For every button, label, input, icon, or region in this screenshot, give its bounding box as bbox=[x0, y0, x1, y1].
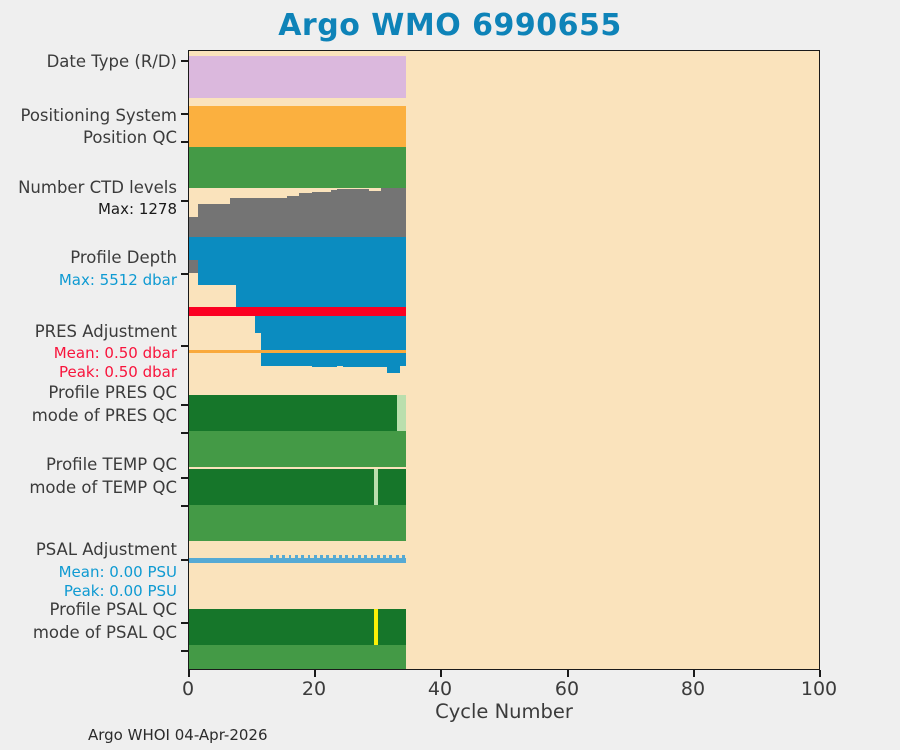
xtick-100 bbox=[819, 670, 821, 677]
qc-segment-mode-of-pres-qc-0 bbox=[189, 431, 406, 467]
label-mode-pres-qc: mode of PRES QC bbox=[32, 406, 177, 425]
footer-credit: Argo WHOI 04-Apr-2026 bbox=[88, 726, 268, 744]
line-marker-psal-adjustment bbox=[364, 555, 367, 559]
label-profile-psal-qc: Profile PSAL QC bbox=[49, 600, 177, 619]
line-marker-psal-adjustment bbox=[383, 555, 386, 559]
line-marker-psal-adjustment bbox=[345, 555, 348, 559]
line-marker-psal-adjustment bbox=[402, 555, 405, 559]
xtick-label-20: 20 bbox=[279, 678, 349, 700]
label-ctd-levels: Number CTD levels bbox=[18, 178, 177, 197]
plot-area bbox=[188, 50, 820, 670]
xtick-80 bbox=[693, 670, 695, 677]
line-marker-psal-adjustment bbox=[377, 555, 380, 559]
line-psal-adjustment bbox=[189, 558, 406, 563]
label-ctd-levels-max: Max: 1278 bbox=[98, 200, 177, 219]
line-marker-psal-adjustment bbox=[320, 555, 323, 559]
label-psal-adjustment: PSAL Adjustment bbox=[36, 540, 177, 559]
line-marker-psal-adjustment bbox=[301, 555, 304, 559]
row-label-column: Date Type (R/D) Positioning System Posit… bbox=[0, 50, 183, 670]
label-date-type: Date Type (R/D) bbox=[47, 52, 177, 71]
xtick-label-0: 0 bbox=[153, 678, 223, 700]
label-pres-peak: Peak: 0.50 dbar bbox=[59, 363, 177, 382]
line-marker-psal-adjustment bbox=[358, 555, 361, 559]
band-positioning-system bbox=[189, 106, 406, 147]
qc-segment-profile-psal-qc-2 bbox=[378, 609, 407, 645]
qc-segment-mode-of-psal-qc-0 bbox=[189, 645, 406, 670]
xtick-20 bbox=[314, 670, 316, 677]
label-positioning: Positioning System bbox=[20, 106, 177, 125]
line-marker-psal-adjustment bbox=[308, 555, 311, 559]
label-profile-pres-qc: Profile PRES QC bbox=[48, 383, 177, 402]
qc-segment-profile-temp-qc-0 bbox=[189, 469, 374, 505]
qc-segment-mode-of-temp-qc-0 bbox=[189, 505, 406, 541]
line-marker-psal-adjustment bbox=[289, 555, 292, 559]
line-marker-psal-adjustment bbox=[314, 555, 317, 559]
line-marker-psal-adjustment bbox=[276, 555, 279, 559]
qc-segment-profile-pres-qc-0 bbox=[189, 395, 397, 431]
line-marker-psal-adjustment bbox=[270, 555, 273, 559]
qc-segment-profile-temp-qc-2 bbox=[378, 469, 406, 505]
xtick-0 bbox=[188, 670, 190, 677]
label-profile-depth: Profile Depth bbox=[70, 248, 177, 267]
label-psal-mean: Mean: 0.00 PSU bbox=[59, 563, 177, 582]
line-marker-psal-adjustment bbox=[396, 555, 399, 559]
label-pres-adjustment: PRES Adjustment bbox=[35, 322, 177, 341]
label-mode-psal-qc: mode of PSAL QC bbox=[33, 623, 177, 642]
argo-float-summary-figure: Argo WMO 6990655 Date Type (R/D) Positio… bbox=[0, 0, 900, 750]
label-position-qc: Position QC bbox=[83, 128, 177, 147]
xtick-label-40: 40 bbox=[405, 678, 475, 700]
xtick-label-60: 60 bbox=[532, 678, 602, 700]
page-title: Argo WMO 6990655 bbox=[0, 8, 900, 43]
line-marker-psal-adjustment bbox=[371, 555, 374, 559]
line-marker-psal-adjustment bbox=[295, 555, 298, 559]
pres-zero-reference-line bbox=[189, 350, 406, 353]
line-marker-psal-adjustment bbox=[352, 555, 355, 559]
qc-segment-profile-psal-qc-0 bbox=[189, 609, 374, 645]
line-marker-psal-adjustment bbox=[389, 555, 392, 559]
label-profile-temp-qc: Profile TEMP QC bbox=[46, 455, 177, 474]
band-position-qc bbox=[189, 147, 406, 188]
line-marker-psal-adjustment bbox=[326, 555, 329, 559]
label-mode-temp-qc: mode of TEMP QC bbox=[29, 478, 177, 497]
pres-adjustment-overlay-line bbox=[189, 307, 406, 316]
bar-pres-adjustment bbox=[331, 351, 337, 367]
xtick-label-100: 100 bbox=[784, 678, 854, 700]
x-axis-title: Cycle Number bbox=[188, 700, 820, 723]
label-psal-peak: Peak: 0.00 PSU bbox=[64, 582, 177, 601]
xtick-40 bbox=[440, 670, 442, 677]
label-pres-mean: Mean: 0.50 dbar bbox=[54, 344, 177, 363]
line-marker-psal-adjustment bbox=[282, 555, 285, 559]
xtick-60 bbox=[567, 670, 569, 677]
bar-pres-adjustment bbox=[394, 351, 400, 373]
band-date-type-r-d bbox=[189, 56, 406, 98]
xtick-label-80: 80 bbox=[658, 678, 728, 700]
line-marker-psal-adjustment bbox=[333, 555, 336, 559]
line-marker-psal-adjustment bbox=[339, 555, 342, 559]
qc-segment-profile-pres-qc-1 bbox=[397, 395, 406, 431]
label-depth-max: Max: 5512 dbar bbox=[59, 271, 177, 290]
plot-canvas bbox=[189, 51, 819, 669]
